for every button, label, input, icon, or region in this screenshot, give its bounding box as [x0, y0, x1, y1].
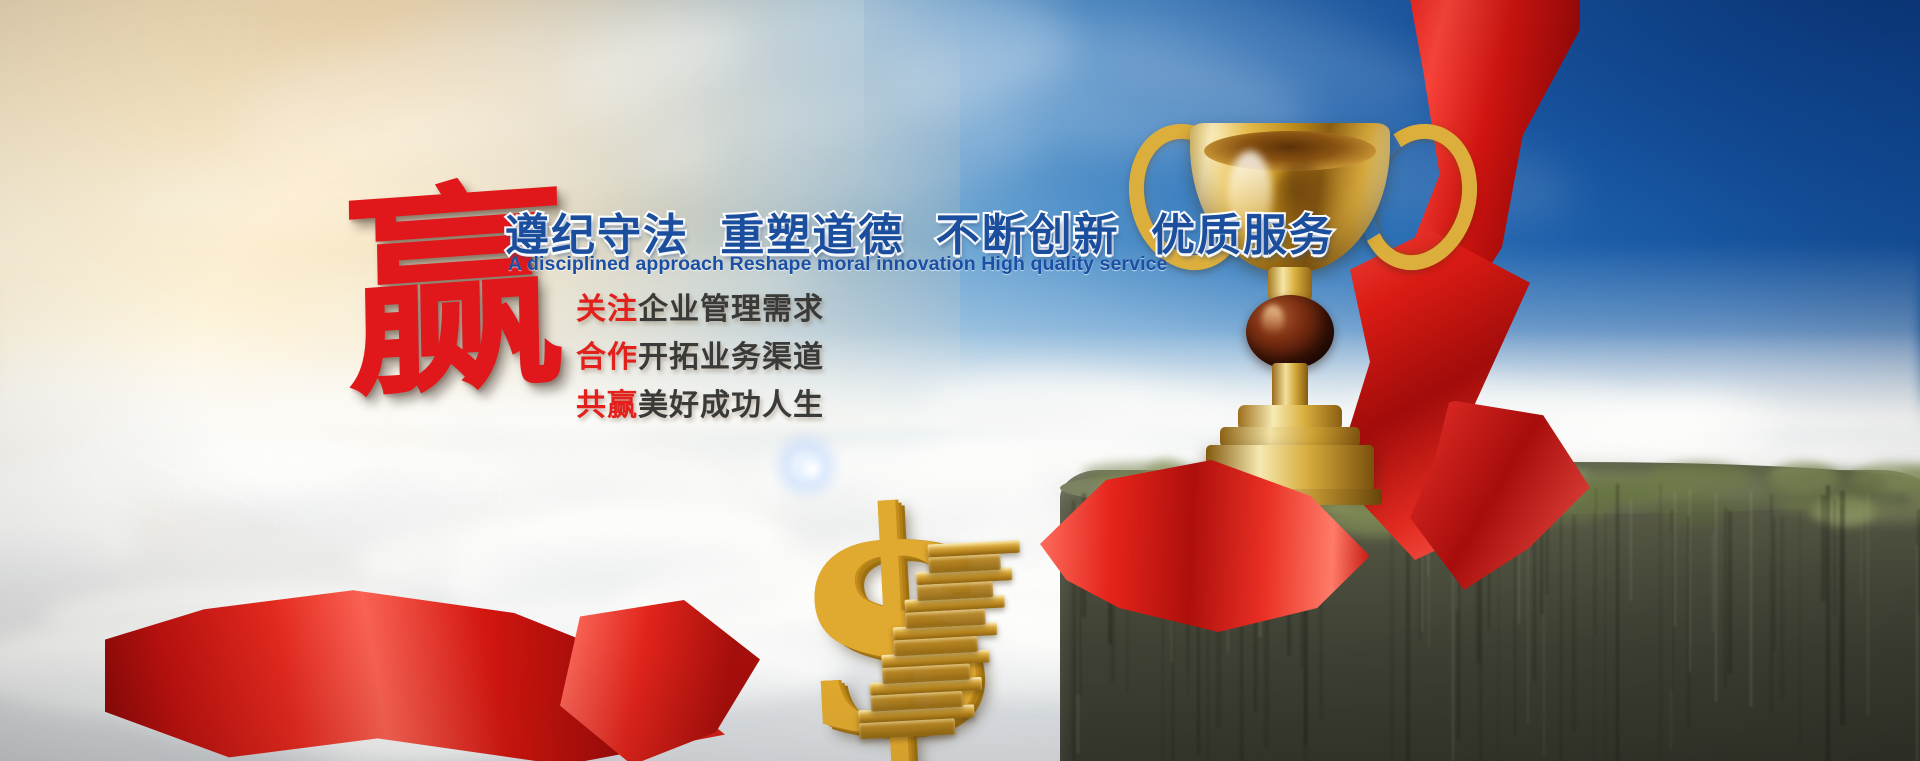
rock-highlight [1670, 531, 1672, 750]
rock-striation [1287, 489, 1292, 656]
tagline-3: 共赢美好成功人生 [576, 380, 824, 424]
dollar-sign-graphic: $ [735, 490, 1068, 761]
rock-striation [1127, 504, 1128, 691]
rock-highlight [1077, 505, 1079, 753]
trophy-base-plate [1198, 489, 1382, 505]
headline-phrase-4: 优质服务 [1151, 210, 1335, 261]
rock-highlight [1421, 525, 1423, 632]
rock-striation [1545, 501, 1550, 594]
rock-striation [1222, 491, 1223, 648]
rock-striation [1207, 516, 1209, 761]
trophy-base-lower [1206, 445, 1374, 493]
rock-highlight [1867, 493, 1869, 715]
gold-trophy [1120, 105, 1460, 505]
moss-patch [1552, 476, 1693, 500]
english-subtitle: A disciplined approach Reshape moral inn… [508, 253, 1167, 276]
rock-highlight [1428, 502, 1430, 647]
rock-highlight [1674, 492, 1676, 625]
rock-striation [1780, 517, 1784, 701]
rock-striation [1728, 511, 1731, 675]
promotional-banner: $ 赢 遵纪守法 重塑道德 不断创新 优质服务 A disciplined ap… [0, 0, 1920, 761]
rock-highlight [1712, 533, 1714, 632]
rock-striation [1187, 482, 1189, 696]
tagline-1: 关注企业管理需求 [576, 284, 824, 328]
rock-striation [1616, 484, 1619, 761]
rock-striation [1301, 483, 1302, 669]
rock-striation [1240, 519, 1243, 761]
rock-striation [1514, 494, 1516, 735]
rock-highlight [1452, 532, 1454, 761]
golden-stairs [844, 510, 1066, 751]
rock-striation [1082, 493, 1086, 617]
rock-highlight [1689, 489, 1691, 672]
rock-striation [1267, 509, 1268, 715]
rock-highlight [1527, 524, 1529, 722]
rock-striation [1833, 499, 1836, 616]
rock-striation [1162, 488, 1164, 761]
tagline-3-text: 美好成功人生 [638, 388, 824, 423]
trophy-stem [1272, 363, 1308, 409]
rock-striation [1476, 489, 1481, 663]
rock-striation [1840, 505, 1844, 691]
trophy-base-middle [1220, 427, 1360, 447]
rock-striation [1826, 485, 1830, 761]
rock-striation [1770, 494, 1773, 713]
rock-highlight [1227, 527, 1229, 653]
rock-striation [1724, 507, 1727, 689]
rock-striation [1605, 511, 1606, 761]
rock-highlight [1715, 493, 1717, 702]
rock-highlight [1171, 502, 1173, 662]
rock-striation [1197, 512, 1200, 755]
rock-highlight [1630, 499, 1632, 602]
rock-highlight [1860, 505, 1862, 598]
rock-striation [1304, 519, 1307, 745]
rock-striation [1108, 514, 1112, 644]
rock-striation [1488, 506, 1491, 630]
rock-striation [1572, 515, 1576, 731]
rock-striation [1560, 517, 1561, 761]
tagline-3-keyword: 共赢 [576, 388, 638, 423]
rock-highlight [1916, 545, 1918, 761]
rock-striation [1799, 511, 1801, 742]
rock-striation [1390, 509, 1394, 761]
tagline-2: 合作开拓业务渠道 [576, 332, 824, 376]
tagline-1-keyword: 关注 [576, 292, 638, 327]
trophy-bulb [1246, 295, 1334, 369]
rock-striation [1254, 500, 1257, 711]
tagline-1-text: 企业管理需求 [638, 292, 824, 327]
rock-highlight [1543, 514, 1545, 757]
tagline-2-text: 开拓业务渠道 [638, 340, 824, 375]
rock-highlight [1750, 492, 1752, 707]
rock-striation [1773, 518, 1775, 651]
rock-striation [1216, 507, 1220, 727]
rock-striation [1659, 483, 1663, 761]
cloud-puff [1485, 398, 1789, 442]
rock-striation [1072, 500, 1075, 761]
rock-striation [1533, 493, 1536, 681]
rock-highlight [1456, 488, 1458, 609]
tagline-2-keyword: 合作 [576, 340, 638, 375]
rock-striation [1406, 517, 1410, 761]
rock-striation [1595, 489, 1597, 635]
rock-striation [1498, 487, 1499, 761]
rock-highlight [1518, 495, 1520, 624]
rock-striation [1319, 515, 1323, 718]
rock-highlight [1259, 504, 1261, 637]
trophy-bulb-highlight [1262, 305, 1284, 335]
rock-striation [1821, 495, 1826, 601]
